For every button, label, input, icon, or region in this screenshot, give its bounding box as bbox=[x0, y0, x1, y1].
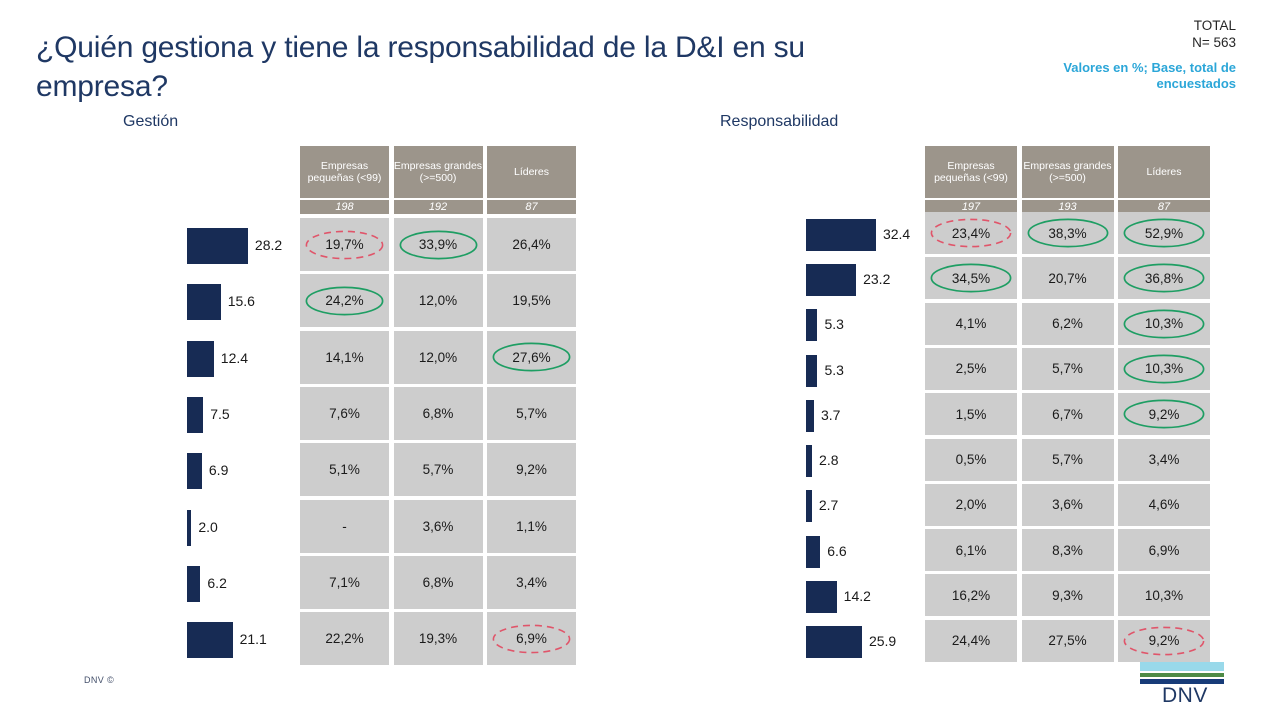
chart-value-label: 5.3 bbox=[824, 362, 843, 378]
chart-value-label: 2.7 bbox=[819, 497, 838, 513]
chart-bar bbox=[806, 355, 817, 387]
page-title: ¿Quién gestiona y tiene la responsabilid… bbox=[36, 28, 866, 106]
table-cell: 12,0% bbox=[394, 274, 483, 327]
table-cell: - bbox=[300, 500, 389, 553]
table-cell: 6,1% bbox=[925, 529, 1017, 571]
table-cell: 6,8% bbox=[394, 387, 483, 440]
table-cell: 9,2% bbox=[487, 443, 576, 496]
base-note: Valores en %; Base, total de encuestados bbox=[1026, 60, 1236, 93]
table-cell: 8,3% bbox=[1022, 529, 1114, 571]
chart-value-label: 32.4 bbox=[883, 226, 910, 242]
table-cell: 6,9% bbox=[1118, 529, 1210, 571]
section-caption-gestion: Gestión bbox=[123, 113, 178, 131]
chart-value-label: 6.9 bbox=[209, 462, 228, 478]
chart-bar bbox=[806, 264, 856, 296]
chart-bar bbox=[806, 490, 812, 522]
table-cell: 9,2% bbox=[1118, 393, 1210, 435]
table-cell: 10,3% bbox=[1118, 303, 1210, 345]
section-caption-responsabilidad: Responsabilidad bbox=[720, 113, 838, 131]
table-cell: 19,5% bbox=[487, 274, 576, 327]
table-cell: 3,6% bbox=[1022, 484, 1114, 526]
chart-bar bbox=[187, 397, 203, 433]
logo-bar-green bbox=[1140, 673, 1224, 677]
chart-value-label: 21.1 bbox=[240, 631, 267, 647]
table-cell: 12,0% bbox=[394, 331, 483, 384]
chart-value-label: 6.6 bbox=[827, 543, 846, 559]
table-cell: 2,0% bbox=[925, 484, 1017, 526]
table-cell: 3,4% bbox=[487, 556, 576, 609]
table-cell: 14,1% bbox=[300, 331, 389, 384]
chart-value-label: 5.3 bbox=[824, 316, 843, 332]
table-cell: 22,2% bbox=[300, 612, 389, 665]
table-cell: 5,7% bbox=[1022, 348, 1114, 390]
chart-value-label: 23.2 bbox=[863, 271, 890, 287]
table-column-n: 192 bbox=[394, 200, 483, 214]
table-cell: 2,5% bbox=[925, 348, 1017, 390]
chart-bar bbox=[187, 510, 191, 546]
chart-bar bbox=[187, 453, 202, 489]
chart-value-label: 12.4 bbox=[221, 350, 248, 366]
table-cell: 4,1% bbox=[925, 303, 1017, 345]
slide-canvas: ¿Quién gestiona y tiene la responsabilid… bbox=[0, 0, 1280, 720]
table-cell: 6,8% bbox=[394, 556, 483, 609]
chart-bar bbox=[187, 622, 233, 658]
table-column-n: 198 bbox=[300, 200, 389, 214]
table-cell: 19,3% bbox=[394, 612, 483, 665]
chart-bar bbox=[806, 581, 837, 613]
table-cell: 20,7% bbox=[1022, 257, 1114, 299]
table-cell: 26,4% bbox=[487, 218, 576, 271]
chart-value-label: 28.2 bbox=[255, 237, 282, 253]
table-cell: 5,7% bbox=[394, 443, 483, 496]
table-cell: 5,7% bbox=[487, 387, 576, 440]
table-column-header: Líderes bbox=[487, 146, 576, 198]
chart-bar bbox=[806, 309, 817, 341]
chart-bar bbox=[187, 228, 248, 264]
table-cell: 38,3% bbox=[1022, 212, 1114, 254]
chart-value-label: 7.5 bbox=[210, 406, 229, 422]
total-block: TOTAL N= 563 Valores en %; Base, total d… bbox=[1026, 18, 1236, 93]
table-cell: 7,1% bbox=[300, 556, 389, 609]
chart-value-label: 2.0 bbox=[198, 519, 217, 535]
table-cell: 24,2% bbox=[300, 274, 389, 327]
chart-bar bbox=[806, 536, 820, 568]
chart-value-label: 15.6 bbox=[228, 293, 255, 309]
table-cell: 10,3% bbox=[1118, 574, 1210, 616]
chart-bar bbox=[187, 341, 214, 377]
table-cell: 6,7% bbox=[1022, 393, 1114, 435]
table-cell: 6,9% bbox=[487, 612, 576, 665]
table-cell: 19,7% bbox=[300, 218, 389, 271]
table-cell: 1,5% bbox=[925, 393, 1017, 435]
chart-bar bbox=[806, 219, 876, 251]
table-cell: 1,1% bbox=[487, 500, 576, 553]
table-cell: 10,3% bbox=[1118, 348, 1210, 390]
total-n: N= 563 bbox=[1026, 35, 1236, 52]
table-cell: 7,6% bbox=[300, 387, 389, 440]
chart-bar bbox=[806, 626, 862, 658]
table-column-header: Líderes bbox=[1118, 146, 1210, 198]
table-cell: 24,4% bbox=[925, 620, 1017, 662]
total-label: TOTAL bbox=[1026, 18, 1236, 35]
table-cell: 16,2% bbox=[925, 574, 1017, 616]
table-column-header: Empresas grandes (>=500) bbox=[394, 146, 483, 198]
logo-text: DNV bbox=[1162, 684, 1208, 708]
table-column-header: Empresas grandes (>=500) bbox=[1022, 146, 1114, 198]
table-cell: 3,6% bbox=[394, 500, 483, 553]
chart-bar bbox=[187, 284, 221, 320]
table-cell: 0,5% bbox=[925, 439, 1017, 481]
chart-value-label: 25.9 bbox=[869, 633, 896, 649]
chart-value-label: 2.8 bbox=[819, 452, 838, 468]
chart-value-label: 14.2 bbox=[844, 588, 871, 604]
chart-value-label: 3.7 bbox=[821, 407, 840, 423]
table-cell: 6,2% bbox=[1022, 303, 1114, 345]
table-cell: 3,4% bbox=[1118, 439, 1210, 481]
table-cell: 52,9% bbox=[1118, 212, 1210, 254]
logo-bar-lightblue bbox=[1140, 662, 1224, 671]
table-cell: 9,3% bbox=[1022, 574, 1114, 616]
chart-bar bbox=[187, 566, 200, 602]
table-cell: 5,1% bbox=[300, 443, 389, 496]
table-column-n: 87 bbox=[487, 200, 576, 214]
table-column-header: Empresas pequeñas (<99) bbox=[300, 146, 389, 198]
table-column-header: Empresas pequeñas (<99) bbox=[925, 146, 1017, 198]
table-cell: 27,6% bbox=[487, 331, 576, 384]
chart-bar bbox=[806, 445, 812, 477]
table-cell: 5,7% bbox=[1022, 439, 1114, 481]
table-cell: 4,6% bbox=[1118, 484, 1210, 526]
table-cell: 27,5% bbox=[1022, 620, 1114, 662]
chart-value-label: 6.2 bbox=[207, 575, 226, 591]
dnv-logo: DNV bbox=[1140, 662, 1224, 708]
table-cell: 33,9% bbox=[394, 218, 483, 271]
table-cell: 34,5% bbox=[925, 257, 1017, 299]
chart-bar bbox=[806, 400, 814, 432]
footer-copyright: DNV © bbox=[84, 675, 114, 685]
table-cell: 23,4% bbox=[925, 212, 1017, 254]
table-cell: 36,8% bbox=[1118, 257, 1210, 299]
table-cell: 9,2% bbox=[1118, 620, 1210, 662]
